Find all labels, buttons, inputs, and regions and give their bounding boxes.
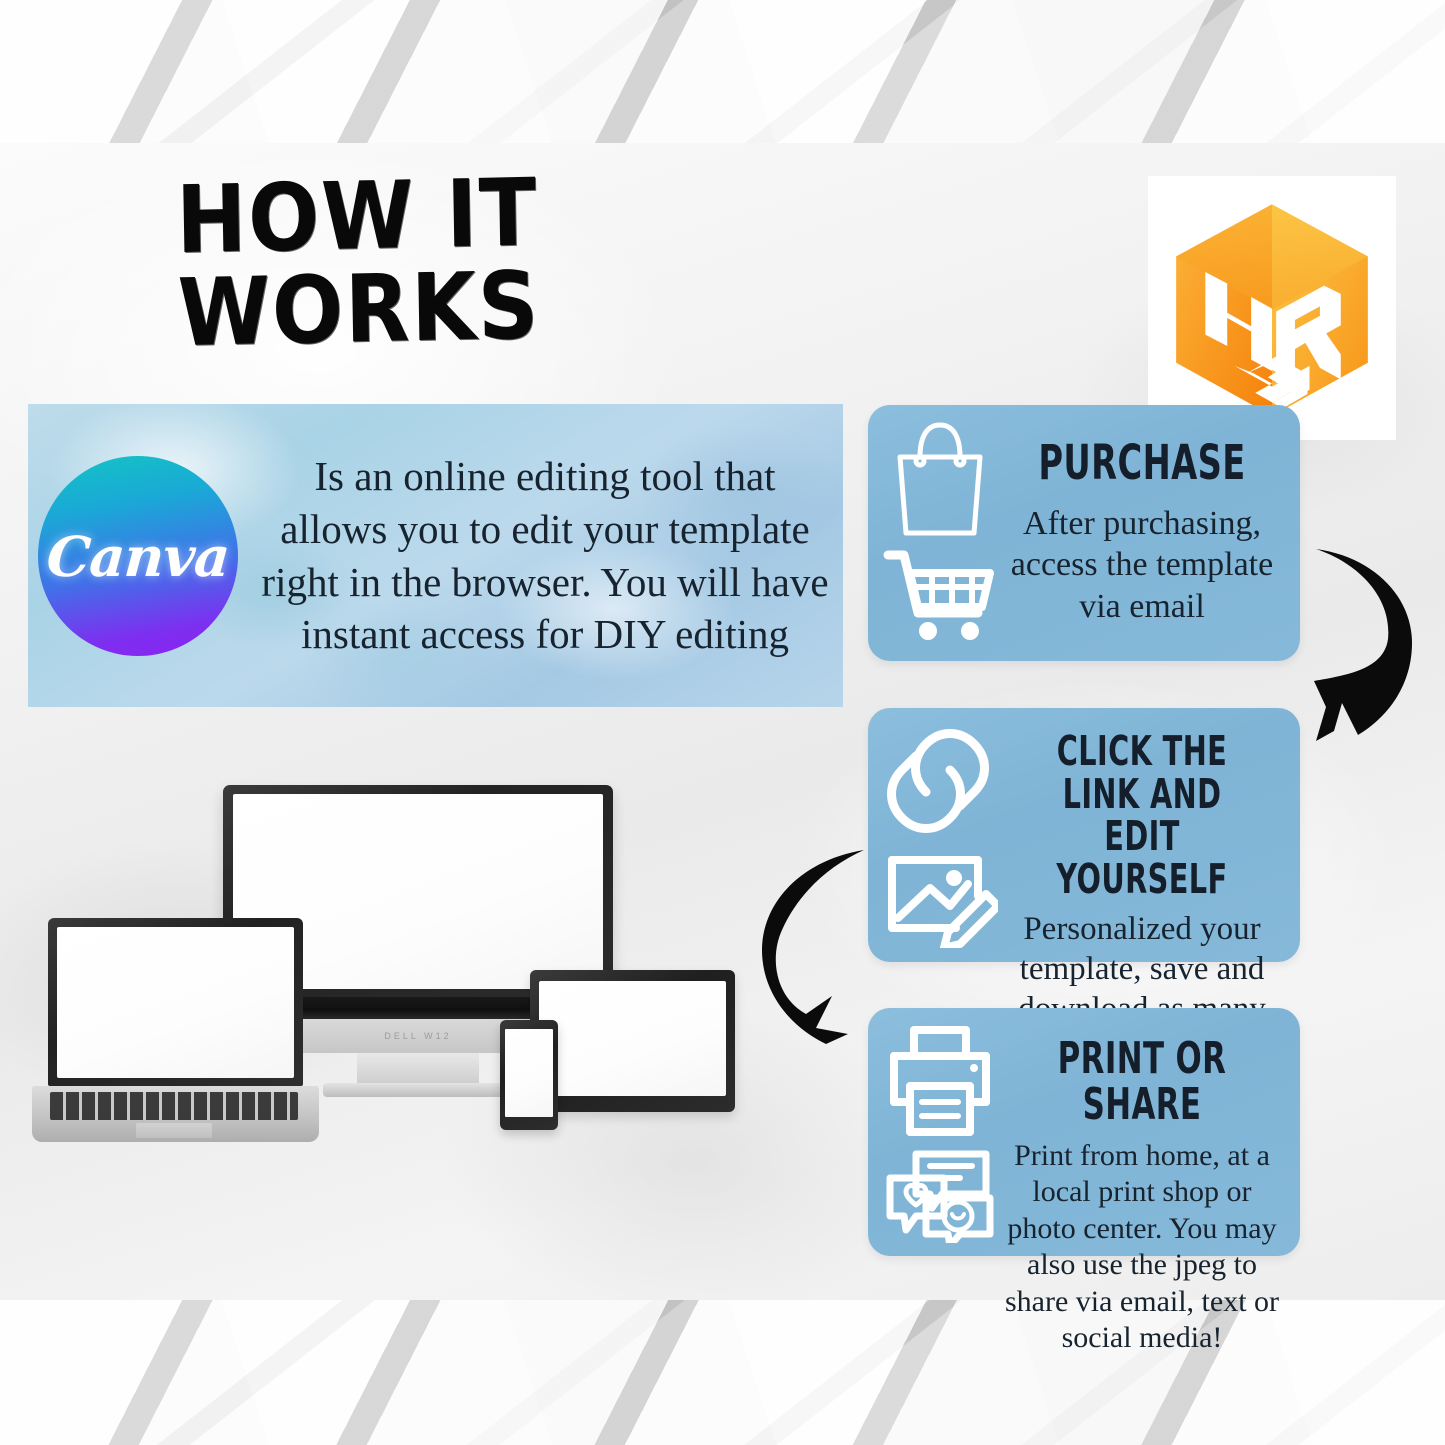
image-edit-icon bbox=[892, 860, 998, 948]
canva-wordmark: Canva bbox=[45, 524, 232, 589]
tablet-screen bbox=[539, 981, 726, 1096]
laptop bbox=[48, 918, 303, 1086]
curved-arrow-down-right bbox=[752, 838, 892, 1053]
curved-arrow-down-left bbox=[1296, 535, 1426, 750]
purchase-description: After purchasing, access the template vi… bbox=[996, 503, 1288, 627]
device-mockups: DELL W12 bbox=[30, 770, 770, 1170]
print-icon-group bbox=[882, 1018, 998, 1243]
monitor-stand-neck bbox=[357, 1053, 479, 1083]
chat-bubbles-icon bbox=[890, 1154, 990, 1243]
printer-icon bbox=[882, 1018, 998, 1243]
hrg-logo-container bbox=[1148, 176, 1396, 440]
laptop-keyboard bbox=[50, 1092, 298, 1120]
edit-title: CLICK THE LINK AND EDIT YOURSELF bbox=[1028, 730, 1256, 901]
purchase-icon-group bbox=[882, 415, 998, 645]
smartphone bbox=[500, 1020, 558, 1130]
print-text-block: PRINT OR SHARE Print from home, at a loc… bbox=[996, 1018, 1288, 1357]
link-chain-icon bbox=[882, 718, 998, 948]
step-card-print[interactable]: PRINT OR SHARE Print from home, at a loc… bbox=[868, 1008, 1300, 1256]
laptop-trackpad bbox=[136, 1123, 212, 1138]
edit-icon-group bbox=[882, 718, 998, 948]
hrg-cube-logo bbox=[1167, 196, 1377, 420]
poster-canvas: HOW IT WORKS bbox=[0, 0, 1445, 1445]
laptop-screen bbox=[57, 927, 294, 1078]
shopping-bag-icon bbox=[882, 415, 998, 645]
page-title: HOW IT WORKS bbox=[176, 198, 844, 322]
top-paper-texture-band bbox=[0, 0, 1445, 143]
canva-description: Is an online editing tool that allows yo… bbox=[256, 414, 834, 697]
print-title: PRINT OR SHARE bbox=[1028, 1036, 1256, 1128]
canva-info-panel: Canva Is an online editing tool that all… bbox=[28, 404, 843, 707]
step-card-purchase[interactable]: PURCHASE After purchasing, access the te… bbox=[868, 405, 1300, 661]
purchase-title: PURCHASE bbox=[1028, 439, 1256, 489]
canva-logo-icon: Canva bbox=[38, 456, 238, 656]
purchase-text-block: PURCHASE After purchasing, access the te… bbox=[996, 415, 1288, 627]
print-description: Print from home, at a local print shop o… bbox=[996, 1138, 1288, 1358]
monitor-stand-base bbox=[323, 1083, 513, 1097]
shopping-cart-icon bbox=[888, 555, 990, 640]
tablet bbox=[530, 970, 735, 1112]
step-card-edit[interactable]: CLICK THE LINK AND EDIT YOURSELF Persona… bbox=[868, 708, 1300, 962]
phone-screen bbox=[505, 1029, 553, 1117]
